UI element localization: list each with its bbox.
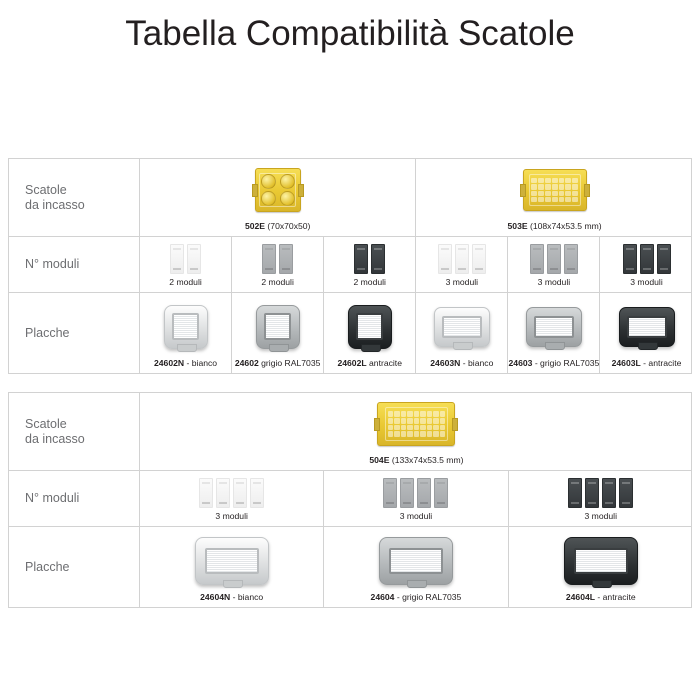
module-cell-3[interactable]: 2 moduli <box>324 237 416 292</box>
compatibility-table-504e: Scatole da incasso <box>8 392 692 608</box>
row-label-boxes-line1: Scatole <box>25 183 85 198</box>
box-cell-503e[interactable]: 503E (108x74x53.5 mm) <box>416 159 692 236</box>
row-label-modules-2: N° moduli <box>9 471 140 526</box>
plate-dark-xwide-icon <box>564 527 638 592</box>
plate-white-wide-icon <box>434 293 490 358</box>
row-label-boxes-2-line2: da incasso <box>25 432 85 447</box>
plate-cell-24602l[interactable]: 24602L antracite <box>324 293 416 373</box>
plate-finish-24603: - grigio RAL7035 <box>535 358 600 368</box>
plate-white-xwide-icon <box>195 527 269 592</box>
box-caption-503e: 503E (108x74x53.5 mm) <box>508 221 602 232</box>
plate-caption-24602l: 24602L antracite <box>337 358 402 369</box>
module-label-3: 2 moduli <box>353 277 385 288</box>
plates-cells: 24602N - bianco 24602 grigio RAL7035 <box>140 293 693 373</box>
module-label-2-3: 3 moduli <box>585 511 617 522</box>
module-strip-dark-4 <box>568 471 633 511</box>
plate-cell-24602n[interactable]: 24602N - bianco <box>140 293 232 373</box>
module-cell-2-2[interactable]: 3 moduli <box>324 471 508 526</box>
modules-cells: 2 moduli 2 moduli 2 moduli <box>140 237 693 292</box>
plate-cell-24604n[interactable]: 24604N - bianco <box>140 527 324 607</box>
plate-caption-24604n: 24604N - bianco <box>200 592 263 603</box>
plate-code-24604n: 24604N <box>200 592 230 602</box>
plate-cell-24603n[interactable]: 24603N - bianco <box>416 293 508 373</box>
box-dimensions-503e: (108x74x53.5 mm) <box>530 221 602 231</box>
plate-finish-24602: grigio RAL7035 <box>261 358 320 368</box>
module-strip-grey-3 <box>530 237 578 277</box>
plate-caption-24602n: 24602N - bianco <box>154 358 217 369</box>
plate-finish-24602n: - bianco <box>187 358 218 368</box>
flush-box-504e-icon <box>377 393 455 455</box>
row-label-boxes-2-line1: Scatole <box>25 417 85 432</box>
module-strip-white-3 <box>438 237 486 277</box>
module-label-1: 2 moduli <box>169 277 201 288</box>
compatibility-table-502e-503e: Scatole da incasso <box>8 158 692 374</box>
table-row-modules: N° moduli 2 moduli 2 moduli <box>9 237 691 293</box>
module-strip-white-4 <box>199 471 264 511</box>
table-row-boxes: Scatole da incasso <box>9 159 691 237</box>
box-dimensions-504e: (133x74x53.5 mm) <box>392 455 464 465</box>
box-dimensions-502e: (70x70x50) <box>267 221 310 231</box>
module-strip-dark-2 <box>354 237 385 277</box>
row-label-modules-text: N° moduli <box>25 257 79 272</box>
plate-code-24602l: 24602L <box>337 358 366 368</box>
plate-grey-wide-icon <box>526 293 582 358</box>
plate-grey-xwide-icon <box>379 527 453 592</box>
plate-caption-24603: 24603 - grigio RAL7035 <box>509 358 600 369</box>
row-label-plates-text: Placche <box>25 326 69 341</box>
module-label-2-2: 3 moduli <box>400 511 432 522</box>
plate-caption-24603l: 24603L - antracite <box>612 358 682 369</box>
plate-code-24602n: 24602N <box>154 358 184 368</box>
module-label-2: 2 moduli <box>261 277 293 288</box>
box-cell-504e[interactable]: 504E (133x74x53.5 mm) <box>140 393 693 470</box>
plate-cell-24604l[interactable]: 24604L - antracite <box>509 527 693 607</box>
table2-row-boxes: Scatole da incasso <box>9 393 691 471</box>
module-label-5: 3 moduli <box>538 277 570 288</box>
row-label-plates: Placche <box>9 293 140 373</box>
plate-cell-24602[interactable]: 24602 grigio RAL7035 <box>232 293 324 373</box>
module-label-4: 3 moduli <box>446 277 478 288</box>
plate-cell-24603l[interactable]: 24603L - antracite <box>600 293 692 373</box>
plate-code-24604l: 24604L <box>566 592 595 602</box>
row-label-modules: N° moduli <box>9 237 140 292</box>
row-label-boxes-2: Scatole da incasso <box>9 393 140 470</box>
module-strip-grey-4 <box>383 471 448 511</box>
module-cell-5[interactable]: 3 moduli <box>508 237 600 292</box>
module-strip-grey-2 <box>262 237 293 277</box>
plates-cells-2: 24604N - bianco 24604 - grigio RAL7035 <box>140 527 693 607</box>
row-label-plates-2: Placche <box>9 527 140 607</box>
plate-finish-24603l: - antracite <box>643 358 681 368</box>
plate-white-square-icon <box>164 293 208 358</box>
table-row-plates: Placche 24602N - bianco <box>9 293 691 373</box>
module-cell-2-3[interactable]: 3 moduli <box>509 471 693 526</box>
compatibility-chart-page: Tabella Compatibilità Scatole Scatole da… <box>0 0 700 700</box>
row-label-boxes-line2: da incasso <box>25 198 85 213</box>
plate-dark-wide-icon <box>619 293 675 358</box>
boxes-cells-2: 504E (133x74x53.5 mm) <box>140 393 693 470</box>
module-cell-2-1[interactable]: 3 moduli <box>140 471 324 526</box>
plate-code-24603: 24603 <box>509 358 533 368</box>
plate-caption-24604l: 24604L - antracite <box>566 592 636 603</box>
plate-code-24602: 24602 <box>235 358 259 368</box>
plate-cell-24603[interactable]: 24603 - grigio RAL7035 <box>508 293 600 373</box>
plate-cell-24604[interactable]: 24604 - grigio RAL7035 <box>324 527 508 607</box>
box-cell-502e[interactable]: 502E (70x70x50) <box>140 159 416 236</box>
module-strip-white-2 <box>170 237 201 277</box>
plate-caption-24603n: 24603N - bianco <box>430 358 493 369</box>
boxes-cells: 502E (70x70x50) <box>140 159 693 236</box>
plate-caption-24604: 24604 - grigio RAL7035 <box>371 592 462 603</box>
page-title: Tabella Compatibilità Scatole <box>0 14 700 54</box>
plate-code-24603n: 24603N <box>430 358 460 368</box>
plate-code-24603l: 24603L <box>612 358 641 368</box>
flush-box-503e-icon <box>523 159 587 221</box>
plate-grey-square-icon <box>256 293 300 358</box>
plate-finish-24604l: - antracite <box>597 592 635 602</box>
row-label-boxes: Scatole da incasso <box>9 159 140 236</box>
plate-finish-24604n: - bianco <box>233 592 264 602</box>
box-code-502e: 502E <box>245 221 265 231</box>
table2-row-plates: Placche 24604N - bianco <box>9 527 691 607</box>
module-cell-2[interactable]: 2 moduli <box>232 237 324 292</box>
plate-caption-24602: 24602 grigio RAL7035 <box>235 358 321 369</box>
modules-cells-2: 3 moduli 3 moduli 3 moduli <box>140 471 693 526</box>
box-code-503e: 503E <box>508 221 528 231</box>
plate-finish-24602l: antracite <box>369 358 402 368</box>
module-cell-6[interactable]: 3 moduli <box>600 237 692 292</box>
module-cell-4[interactable]: 3 moduli <box>416 237 508 292</box>
flush-box-502e-icon <box>255 159 301 221</box>
row-label-modules-2-text: N° moduli <box>25 491 79 506</box>
table2-row-modules: N° moduli 3 moduli 3 moduli <box>9 471 691 527</box>
plate-finish-24603n: - bianco <box>463 358 494 368</box>
box-caption-504e: 504E (133x74x53.5 mm) <box>369 455 463 466</box>
row-label-plates-2-text: Placche <box>25 560 69 575</box>
module-label-2-1: 3 moduli <box>215 511 247 522</box>
module-strip-dark-3 <box>623 237 671 277</box>
module-label-6: 3 moduli <box>630 277 662 288</box>
plate-finish-24604: - grigio RAL7035 <box>397 592 462 602</box>
plate-code-24604: 24604 <box>371 592 395 602</box>
plate-dark-square-icon <box>348 293 392 358</box>
box-caption-502e: 502E (70x70x50) <box>245 221 310 232</box>
module-cell-1[interactable]: 2 moduli <box>140 237 232 292</box>
box-code-504e: 504E <box>369 455 389 465</box>
